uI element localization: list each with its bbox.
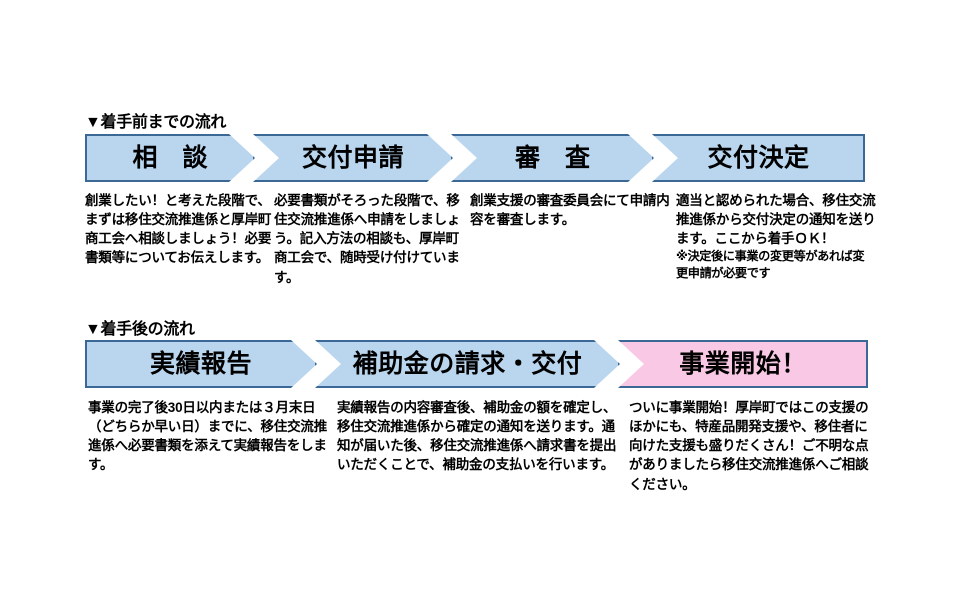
flow-step-description-examination: 創業支援の審査委員会にて申請内容を審査します。 [470,191,675,229]
flow-step-description-subsidy-claim-payment: 実績報告の内容審査後、補助金の額を確定し、移住交流推進係から確定の通知を送ります… [337,398,619,475]
flow-step-description-performance-report: 事業の完了後30日以内または３月末日（どちらか早い日）までに、移住交流推進係へ必… [88,398,335,475]
flow-step-grant-decision[interactable]: 交付決定 [652,134,865,182]
flow-step-label: 相 談 [124,146,217,171]
flow-step-performance-report[interactable]: 実績報告 [85,340,317,388]
description-main-text: 適当と認められた場合、移住交流推進係から交付決定の通知を送ります。ここから着手Ｏ… [676,193,876,246]
flow-step-consultation[interactable]: 相 談 [85,134,255,182]
flow-step-label: 交付申請 [302,146,404,171]
flow-step-examination[interactable]: 審 査 [451,134,654,182]
flow-step-description-business-start: ついに事業開始！厚岸町ではこの支援のほかにも、特産品開発支援や、移住者に向けた支… [629,398,879,494]
section-header-before-start: ▼着手前までの流れ [85,108,226,132]
flow-step-label: 補助金の請求・交付 [353,352,583,377]
flow-step-description-grant-application: 必要書類がそろった段階で、移住交流推進係へ申請をしましょう。記入方法の相談も、厚… [274,191,464,287]
flow-bar-after-start: 実績報告 補助金の請求・交付 事業開始！ [85,340,868,388]
flow-step-label: 事業開始！ [679,352,807,377]
flow-step-label: 審 査 [506,146,599,171]
description-note-text: ※決定後に事業の変更等があれば変更申請が必要です [676,248,876,281]
flow-step-description-grant-decision: 適当と認められた場合、移住交流推進係から交付決定の通知を送ります。ここから着手Ｏ… [676,191,876,282]
flow-step-description-consultation: 創業したい！と考えた段階で、まずは移住交流推進係と厚岸町商工会へ相談しましょう！… [85,191,275,268]
flow-step-business-start[interactable]: 事業開始！ [618,340,868,388]
flow-step-label: 交付決定 [707,146,809,171]
flow-step-grant-application[interactable]: 交付申請 [253,134,453,182]
flow-step-subsidy-claim-payment[interactable]: 補助金の請求・交付 [315,340,620,388]
flow-diagram-page: ▼着手前までの流れ 相 談 交付申請 審 査 交付決定 創業したい！と考えた段階… [0,0,960,606]
section-header-after-start: ▼着手後の流れ [85,315,195,339]
flow-step-label: 実績報告 [150,352,252,377]
flow-bar-before-start: 相 談 交付申請 審 査 交付決定 [85,134,865,182]
